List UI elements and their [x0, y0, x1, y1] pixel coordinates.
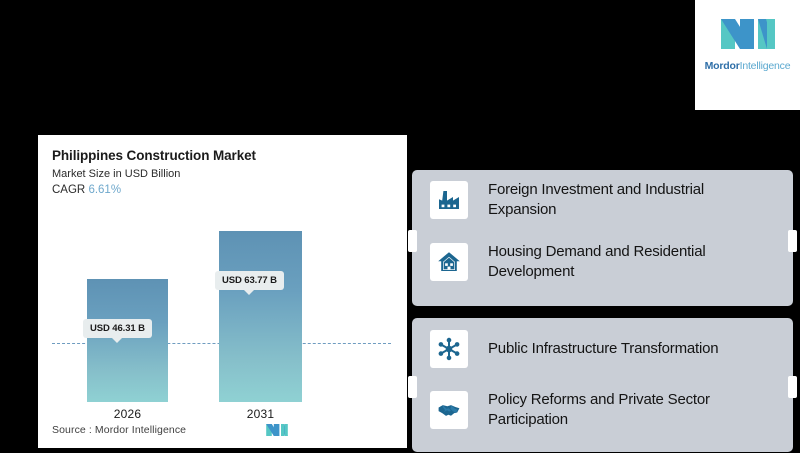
driver-label: Public Infrastructure Transformation: [488, 339, 718, 359]
x-axis-tick-2026: 2026: [87, 407, 168, 421]
cagr-label: CAGR: [52, 184, 85, 196]
network-hub-icon: [430, 330, 468, 368]
drivers-panel-a: Foreign Investment and Industrial Expans…: [412, 170, 793, 306]
panel-a-right-notch: [788, 230, 797, 252]
bar-2031: [219, 231, 302, 402]
screenshot-root: MordorIntelligence Philippines Construct…: [0, 0, 800, 453]
source-row: Source : Mordor Intelligence: [52, 422, 393, 438]
chart-cagr: CAGR 6.61%: [52, 182, 393, 198]
driver-foreign-investment[interactable]: Foreign Investment and Industrial Expans…: [430, 180, 769, 220]
house-icon: [430, 243, 468, 281]
panel-b-right-notch: [788, 376, 797, 398]
chart-card: Philippines Construction Market Market S…: [38, 135, 407, 448]
driver-policy-reforms[interactable]: Policy Reforms and Private Sector Partic…: [430, 390, 769, 430]
source-label: Source : Mordor Intelligence: [52, 424, 186, 436]
brand-wordmark: MordorIntelligence: [705, 60, 791, 72]
chart-title: Philippines Construction Market: [52, 147, 393, 164]
bar-value-label-2026: USD 46.31 B: [83, 319, 152, 338]
driver-label: Foreign Investment and Industrial Expans…: [488, 180, 769, 220]
brand-wordmark-bold: Mordor: [705, 60, 740, 72]
driver-label: Housing Demand and Residential Developme…: [488, 242, 769, 282]
driver-public-infrastructure[interactable]: Public Infrastructure Transformation: [430, 330, 769, 368]
panel-b-left-notch: [408, 376, 417, 398]
bar-chart-plot: USD 46.31 B USD 63.77 B 2026 2031: [52, 204, 393, 419]
bar-2026: [87, 279, 168, 402]
mordor-intelligence-logo-small-icon: [264, 422, 290, 438]
factory-icon: [430, 181, 468, 219]
handshake-icon: [430, 391, 468, 429]
panel-a-left-notch: [408, 230, 417, 252]
x-axis-tick-2031: 2031: [219, 407, 302, 421]
cagr-value: 6.61%: [88, 184, 121, 196]
brand-logo-card: MordorIntelligence: [695, 0, 800, 110]
drivers-panel-b: Public Infrastructure Transformation Pol…: [412, 318, 793, 452]
chart-subtitle: Market Size in USD Billion: [52, 166, 393, 182]
driver-label: Policy Reforms and Private Sector Partic…: [488, 390, 769, 430]
mordor-intelligence-logo-icon: [718, 14, 778, 54]
brand-wordmark-light: Intelligence: [740, 60, 791, 72]
driver-housing-demand[interactable]: Housing Demand and Residential Developme…: [430, 242, 769, 282]
bar-value-label-2031: USD 63.77 B: [215, 271, 284, 290]
